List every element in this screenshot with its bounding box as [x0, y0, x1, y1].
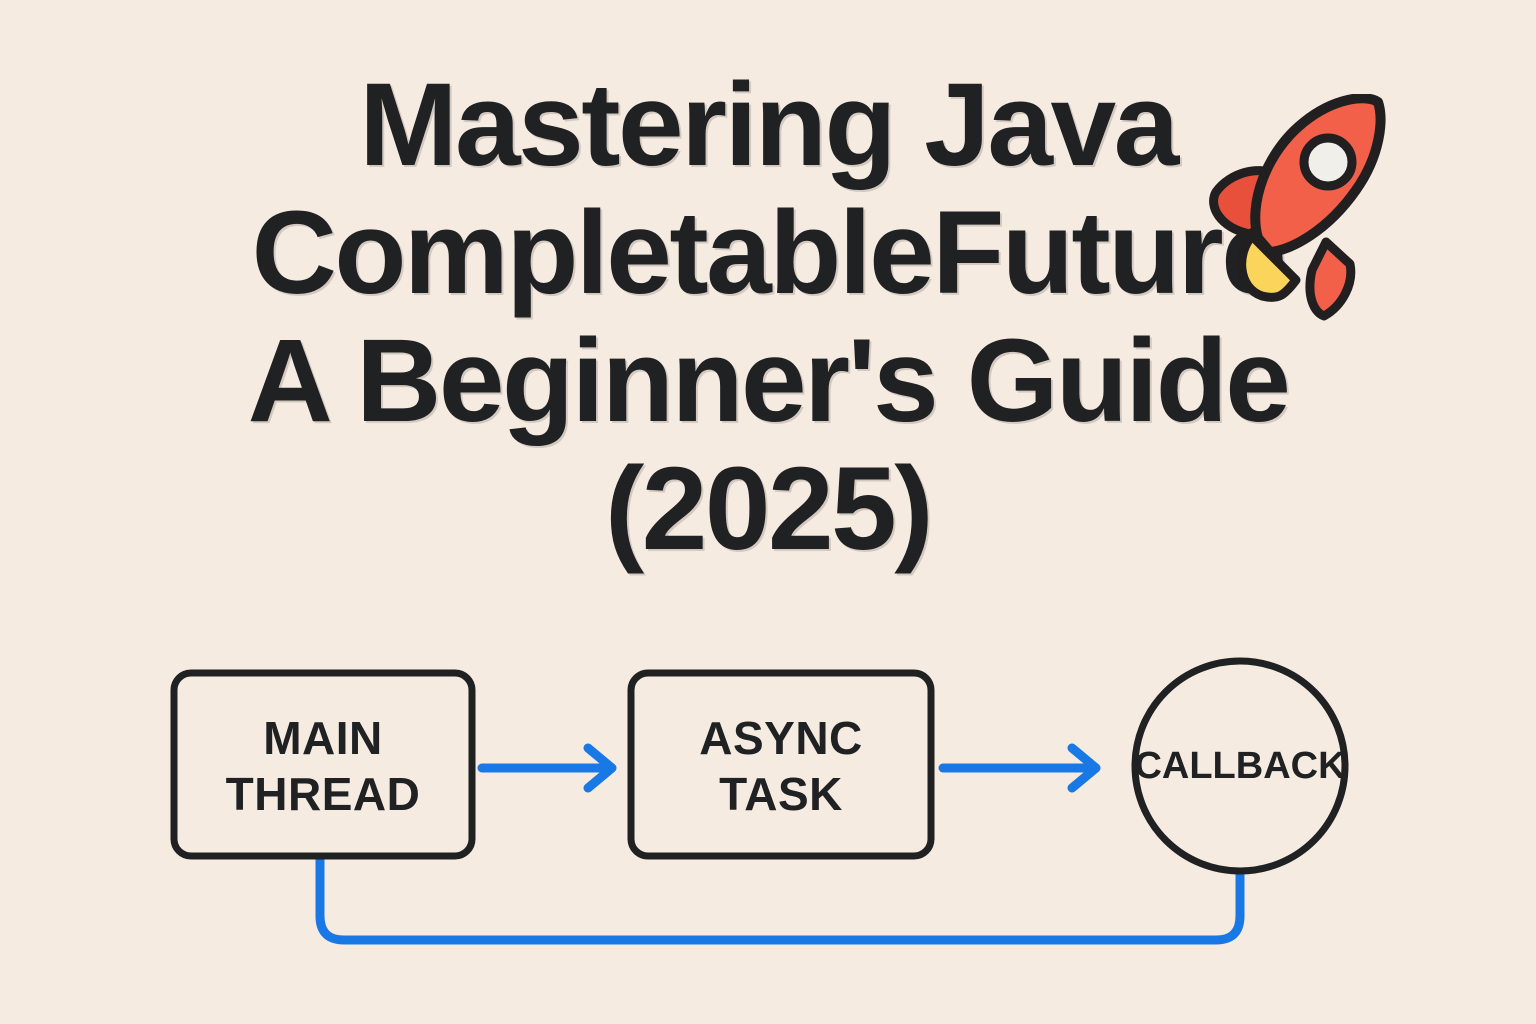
async-task-box	[631, 673, 931, 856]
node-callback[interactable]: CALLBACK	[1134, 661, 1346, 871]
main-thread-label-line-1: MAIN	[263, 712, 383, 764]
async-task-label-line-1: ASYNC	[699, 712, 863, 764]
connector-main-thread-to-async-task	[482, 748, 612, 788]
flow-diagram: MAIN THREAD ASYNC TASK CALLBACK	[0, 0, 1536, 1024]
main-thread-box	[174, 673, 472, 856]
async-task-label-line-2: TASK	[719, 768, 843, 820]
callback-label: CALLBACK	[1134, 745, 1346, 787]
connector-callback-to-main-thread	[320, 858, 1240, 940]
node-async-task[interactable]: ASYNC TASK	[631, 673, 931, 856]
main-thread-label-line-2: THREAD	[226, 768, 421, 820]
node-main-thread[interactable]: MAIN THREAD	[174, 673, 472, 856]
connector-async-task-to-callback	[943, 748, 1096, 788]
poster-canvas: Mastering Java CompletableFuture A Begin…	[0, 0, 1536, 1024]
